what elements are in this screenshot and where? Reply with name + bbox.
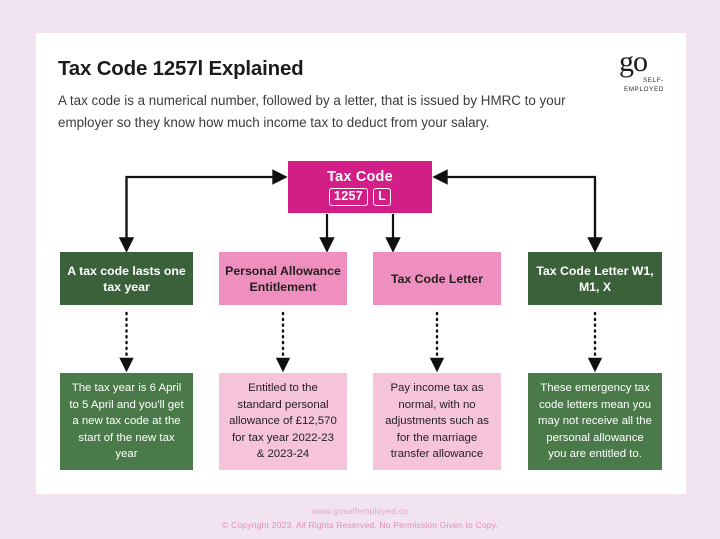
node-detail-emergency-letters[interactable]: These emergency tax code letters mean yo…	[528, 373, 662, 470]
node-heading-personal-allowance[interactable]: Personal Allowance Entitlement	[219, 252, 347, 305]
node-root-label: Tax Code	[327, 169, 393, 185]
tax-code-number-chip: 1257	[329, 188, 368, 206]
tax-code-chips: 1257 L	[329, 188, 391, 206]
flow-diagram: Tax Code 1257 L A tax code lasts one tax…	[36, 33, 686, 494]
infographic-page: Tax Code 1257l Explained A tax code is a…	[0, 0, 720, 539]
infographic-card: Tax Code 1257l Explained A tax code is a…	[36, 33, 686, 494]
node-heading-tax-code-letter[interactable]: Tax Code Letter	[373, 252, 501, 305]
node-detail-tax-year[interactable]: The tax year is 6 April to 5 April and y…	[60, 373, 193, 470]
footer-copyright: © Copyright 2023. All Rights Reserved. N…	[0, 520, 720, 530]
footer: www.goselfemployed.co © Copyright 2023. …	[0, 506, 720, 530]
tax-code-letter-chip: L	[373, 188, 391, 206]
node-heading-emergency-letters[interactable]: Tax Code Letter W1, M1, X	[528, 252, 662, 305]
node-tax-code-root[interactable]: Tax Code 1257 L	[288, 161, 432, 213]
footer-website-url[interactable]: www.goselfemployed.co	[0, 506, 720, 516]
node-detail-tax-code-letter[interactable]: Pay income tax as normal, with no adjust…	[373, 373, 501, 470]
node-detail-personal-allowance[interactable]: Entitled to the standard personal allowa…	[219, 373, 347, 470]
node-heading-tax-year[interactable]: A tax code lasts one tax year	[60, 252, 193, 305]
